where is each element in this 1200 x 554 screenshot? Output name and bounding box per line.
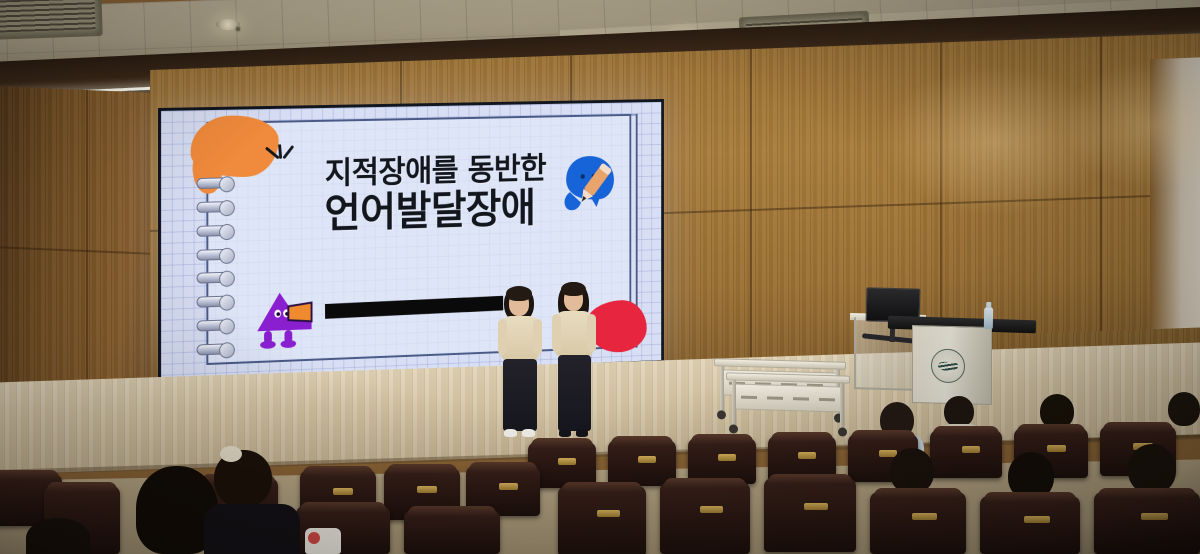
lecture-hall-photo: 지적장애를 동반한 언어발달장애 [0,0,1200,554]
auditorium-seat[interactable] [980,496,1080,554]
spiral-ring-icon [197,343,232,355]
table-caster [717,410,726,419]
water-bottle[interactable] [984,307,993,329]
presenter-shoe [504,429,517,437]
spiral-ring-icon [197,225,232,237]
presenter-shoe [522,429,535,437]
spiral-binding [197,177,236,355]
presenter-trousers [503,359,537,431]
seat-number-plate [1141,513,1169,520]
spiral-ring-icon [197,201,232,213]
lectern[interactable] [912,325,992,405]
auditorium-seat[interactable] [660,482,750,554]
presenter-shoe [576,429,588,437]
audience-person-foreground [26,518,90,554]
seat-number-plate [333,488,353,495]
table-leg [720,366,724,414]
seat-number-plate [417,486,437,493]
presenter-arm [552,314,561,352]
presenter-arm [587,314,596,352]
presenter-trousers [558,355,591,431]
person-torso [204,504,300,554]
spiral-ring-icon [197,296,232,308]
presenter-arm [498,319,507,355]
seat-number-plate [962,446,981,453]
auditorium-seat[interactable] [870,492,966,554]
presenter-left [498,285,542,445]
spiral-ring-icon [197,272,232,284]
auditorium-seat[interactable] [558,486,646,554]
slide-title-block: 지적장애를 동반한 언어발달장애 [244,153,612,237]
audience-person-foreground [214,450,310,554]
presenter-hair-front [506,286,532,301]
purple-character-with-book-icon [253,287,329,351]
seat-number-plate [1047,445,1066,452]
bag-logo [308,532,320,544]
presenter-hair-front [561,282,586,296]
wall-panel-seam [750,49,752,389]
audience-person [1168,392,1200,426]
table-caster [729,424,738,433]
seat-number-plate [558,458,576,465]
seat-number-plate [718,454,736,461]
spiral-ring-icon [197,248,232,260]
sparkle-icon [265,144,298,170]
presenter-shoe [559,429,571,437]
auditorium-seat[interactable] [764,478,856,552]
presenter-right [552,280,596,445]
table-leg [732,380,736,428]
table-caster [838,427,847,436]
seat-number-plate [597,510,620,517]
table-modesty-panel [732,383,844,412]
seat-number-plate [1024,516,1050,523]
wall-panel-seam [1100,37,1102,377]
person-head [944,396,974,427]
person-head [26,518,90,554]
seat-number-plate [638,456,656,463]
university-crest-icon [931,348,965,383]
hair-scrunchie [220,446,242,462]
table-leg [840,383,844,431]
seat-number-plate [499,483,518,490]
blue-character-with-pencil-icon [559,153,620,214]
seat-number-plate [700,506,723,513]
person-head [1128,444,1176,494]
auditorium-seat[interactable] [404,510,500,554]
seat-number-plate [912,513,937,520]
seat-number-plate [798,452,816,459]
auditorium-seat[interactable] [1094,492,1200,554]
ceiling-ac-vent-left [0,0,103,40]
seat-number-plate [804,503,828,510]
person-head [1168,392,1200,426]
presenter-arm [533,319,542,355]
ceiling-sprinkler [236,27,240,31]
spiral-ring-icon [197,177,232,189]
spiral-ring-icon [197,319,232,331]
